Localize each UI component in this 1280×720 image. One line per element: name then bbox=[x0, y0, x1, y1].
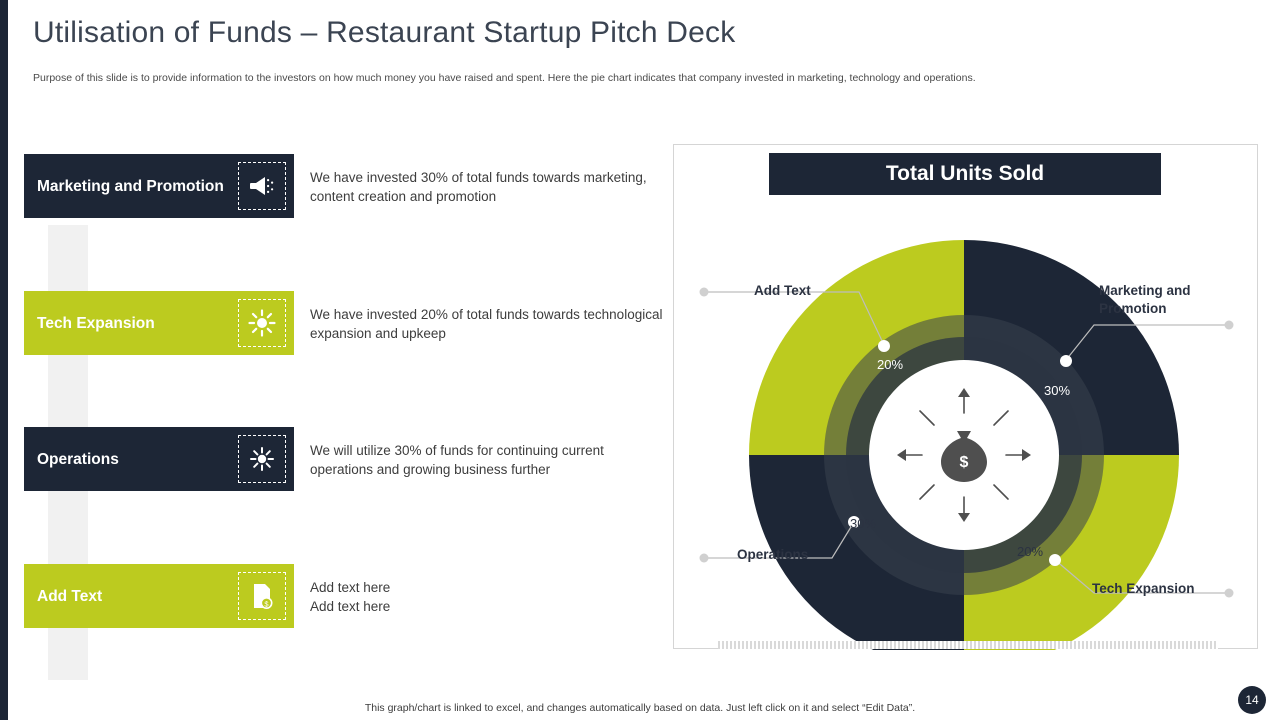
donut-chart[interactable]: $ bbox=[674, 145, 1259, 650]
funds-category-label: Marketing and Promotion bbox=[24, 176, 230, 197]
funds-category-description: We have invested 20% of total funds towa… bbox=[310, 305, 670, 343]
add-text-line-1: Add text here bbox=[310, 578, 510, 597]
page-title: Utilisation of Funds – Restaurant Startu… bbox=[33, 16, 735, 50]
slice-value-tech: 20% bbox=[1017, 544, 1043, 559]
panel-bottom-strip bbox=[718, 641, 1218, 649]
svg-text:$: $ bbox=[960, 454, 969, 471]
funds-category-description: We will utilize 30% of funds for continu… bbox=[310, 441, 670, 479]
funds-category-label: Add Text bbox=[24, 586, 230, 607]
callout-label-marketing: Marketing and Promotion bbox=[1099, 282, 1229, 318]
slice-value-add-text: 20% bbox=[877, 357, 903, 372]
funds-category-operations[interactable]: Operations bbox=[24, 427, 294, 491]
cog-icon bbox=[230, 427, 294, 491]
gear-sun-icon bbox=[230, 291, 294, 355]
funds-category-label: Tech Expansion bbox=[24, 313, 230, 334]
page-number-badge: 14 bbox=[1238, 686, 1266, 714]
megaphone-icon bbox=[230, 154, 294, 218]
callout-marketing-line2: Promotion bbox=[1099, 300, 1229, 318]
footnote: This graph/chart is linked to excel, and… bbox=[0, 702, 1280, 714]
callout-marketing-line1: Marketing and bbox=[1099, 282, 1229, 300]
funds-category-marketing[interactable]: Marketing and Promotion bbox=[24, 154, 294, 218]
funds-category-tech[interactable]: Tech Expansion bbox=[24, 291, 294, 355]
funds-category-label: Operations bbox=[24, 449, 230, 470]
page-subtitle: Purpose of this slide is to provide info… bbox=[33, 71, 1153, 85]
add-text-line-2: Add text here bbox=[310, 597, 510, 616]
chart-panel[interactable]: Total Units Sold bbox=[673, 144, 1258, 649]
slice-value-operations: 30% bbox=[850, 516, 876, 531]
funds-category-description: We have invested 30% of total funds towa… bbox=[310, 168, 670, 206]
funds-category-description: Add text here Add text here bbox=[310, 578, 510, 616]
callout-label-add-text: Add Text bbox=[754, 282, 811, 300]
slice-value-marketing: 30% bbox=[1044, 383, 1070, 398]
callout-label-operations: Operations bbox=[737, 546, 808, 564]
left-accent-bar bbox=[0, 0, 8, 720]
callout-label-tech: Tech Expansion bbox=[1092, 580, 1195, 598]
funds-category-add-text[interactable]: Add Text $ bbox=[24, 564, 294, 628]
document-dollar-icon: $ bbox=[230, 564, 294, 628]
